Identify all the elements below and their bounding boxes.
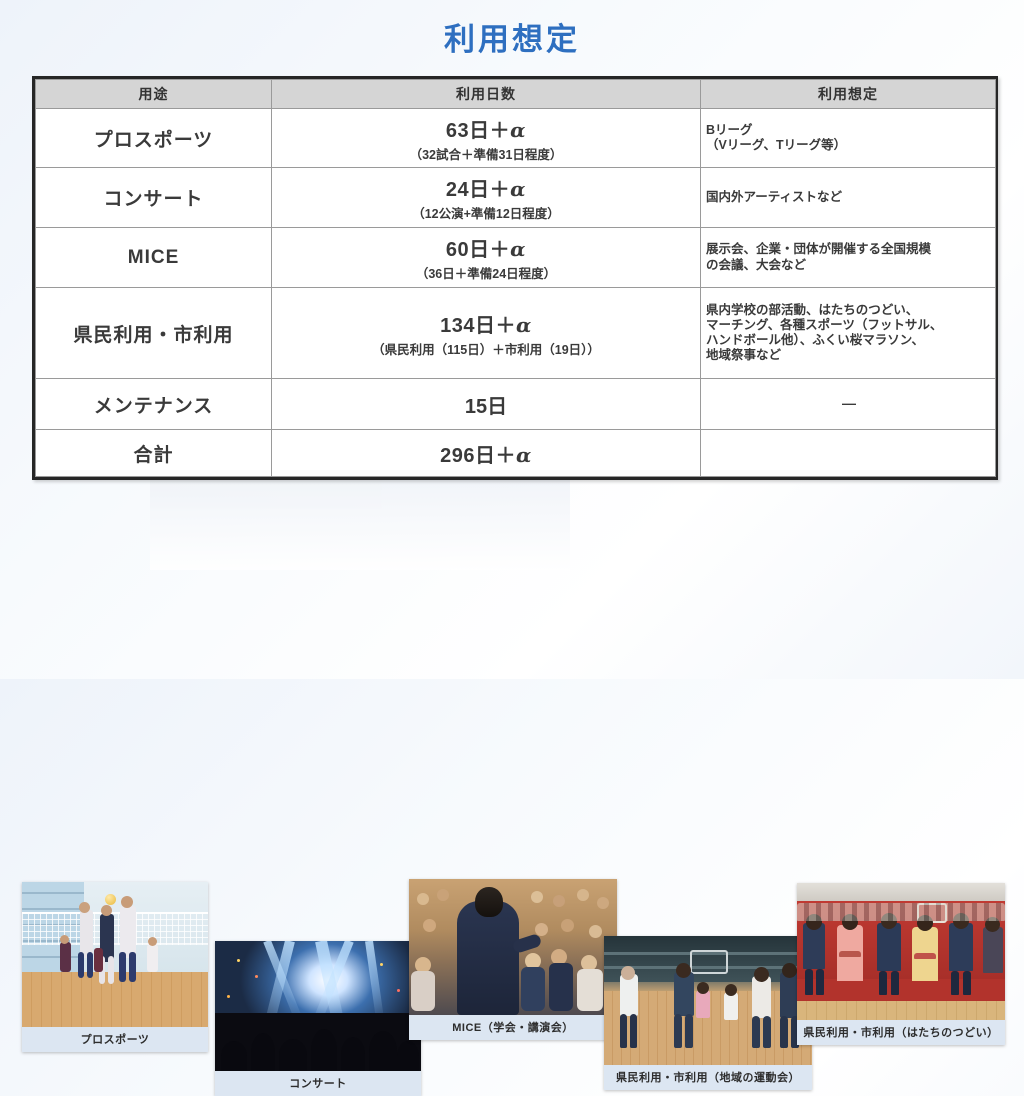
cell-days: 15日 — [272, 379, 701, 430]
cell-use: コンサート — [36, 168, 272, 228]
photo-gallery: プロスポーツ — [0, 436, 1024, 679]
table-row: プロスポーツ 63日＋α （32試合＋準備31日程度） Bリーグ（Vリーグ、Tリ… — [36, 109, 996, 168]
photo-image-concert — [215, 941, 421, 1071]
cell-days: 24日＋α （12公演+準備12日程度） — [272, 168, 701, 228]
photo-caption: コンサート — [215, 1071, 421, 1096]
photo-card-community-sports: 県民利用・市利用（地域の運動会） — [604, 936, 812, 1090]
cell-note: 県内学校の部活動、はたちのつどい、マーチング、各種スポーツ（フットサル、ハンドボ… — [701, 288, 996, 379]
cell-days: 134日＋α （県民利用（115日）＋市利用（19日）） — [272, 288, 701, 379]
photo-image-volleyball — [22, 882, 208, 1027]
photo-card-concert: コンサート — [215, 941, 421, 1096]
days-alpha: α — [510, 118, 526, 142]
cell-note: Bリーグ（Vリーグ、Tリーグ等） — [701, 109, 996, 168]
cell-use: プロスポーツ — [36, 109, 272, 168]
photo-caption: 県民利用・市利用（地域の運動会） — [604, 1065, 812, 1090]
days-main: 134日＋ — [440, 315, 516, 337]
cell-days: 60日＋α （36日＋準備24日程度） — [272, 228, 701, 288]
slide-root: 利用想定 KUI ARENA 用途 利用日数 利用想定 プロスポーツ 63日＋α… — [0, 0, 1024, 679]
cell-use: メンテナンス — [36, 379, 272, 430]
days-sub: （36日＋準備24日程度） — [272, 263, 700, 282]
cell-note: 国内外アーティストなど — [701, 168, 996, 228]
photo-image-ceremony — [797, 883, 1005, 1020]
days-alpha: α — [510, 237, 526, 261]
days-main: 60日＋ — [446, 239, 510, 261]
photo-image-sports-day — [604, 936, 812, 1065]
cell-use: 県民利用・市利用 — [36, 288, 272, 379]
days-sub: （12公演+準備12日程度） — [272, 203, 700, 222]
page-title: 利用想定 — [0, 14, 1024, 59]
days-sub: （32試合＋準備31日程度） — [272, 144, 700, 163]
days-alpha: α — [516, 313, 532, 337]
table-row: MICE 60日＋α （36日＋準備24日程度） 展示会、企業・団体が開催する全… — [36, 228, 996, 288]
photo-card-coming-of-age: 県民利用・市利用（はたちのつどい） — [797, 883, 1005, 1045]
cell-note: ― — [701, 379, 996, 430]
cell-days: 63日＋α （32試合＋準備31日程度） — [272, 109, 701, 168]
usage-table: 用途 利用日数 利用想定 プロスポーツ 63日＋α （32試合＋準備31日程度）… — [32, 76, 998, 480]
column-header-usage: 利用想定 — [701, 80, 996, 109]
photo-card-mice: MICE（学会・講演会） — [409, 879, 617, 1040]
table-row: 県民利用・市利用 134日＋α （県民利用（115日）＋市利用（19日）） 県内… — [36, 288, 996, 379]
column-header-use: 用途 — [36, 80, 272, 109]
table-row: コンサート 24日＋α （12公演+準備12日程度） 国内外アーティストなど — [36, 168, 996, 228]
days-main: 24日＋ — [446, 179, 510, 201]
photo-caption: MICE（学会・講演会） — [409, 1015, 617, 1040]
photo-caption: 県民利用・市利用（はたちのつどい） — [797, 1020, 1005, 1045]
column-header-days: 利用日数 — [272, 80, 701, 109]
days-sub: （県民利用（115日）＋市利用（19日）） — [272, 339, 700, 358]
cell-note: 展示会、企業・団体が開催する全国規模の会議、大会など — [701, 228, 996, 288]
days-main: 63日＋ — [446, 120, 510, 142]
photo-image-lecture — [409, 879, 617, 1015]
days-alpha: α — [510, 177, 526, 201]
photo-caption: プロスポーツ — [22, 1027, 208, 1052]
photo-card-pro-sports: プロスポーツ — [22, 882, 208, 1052]
table-row: メンテナンス 15日 ― — [36, 379, 996, 430]
table-header-row: 用途 利用日数 利用想定 — [36, 80, 996, 109]
cell-use: MICE — [36, 228, 272, 288]
days-main: 15日 — [465, 396, 507, 418]
